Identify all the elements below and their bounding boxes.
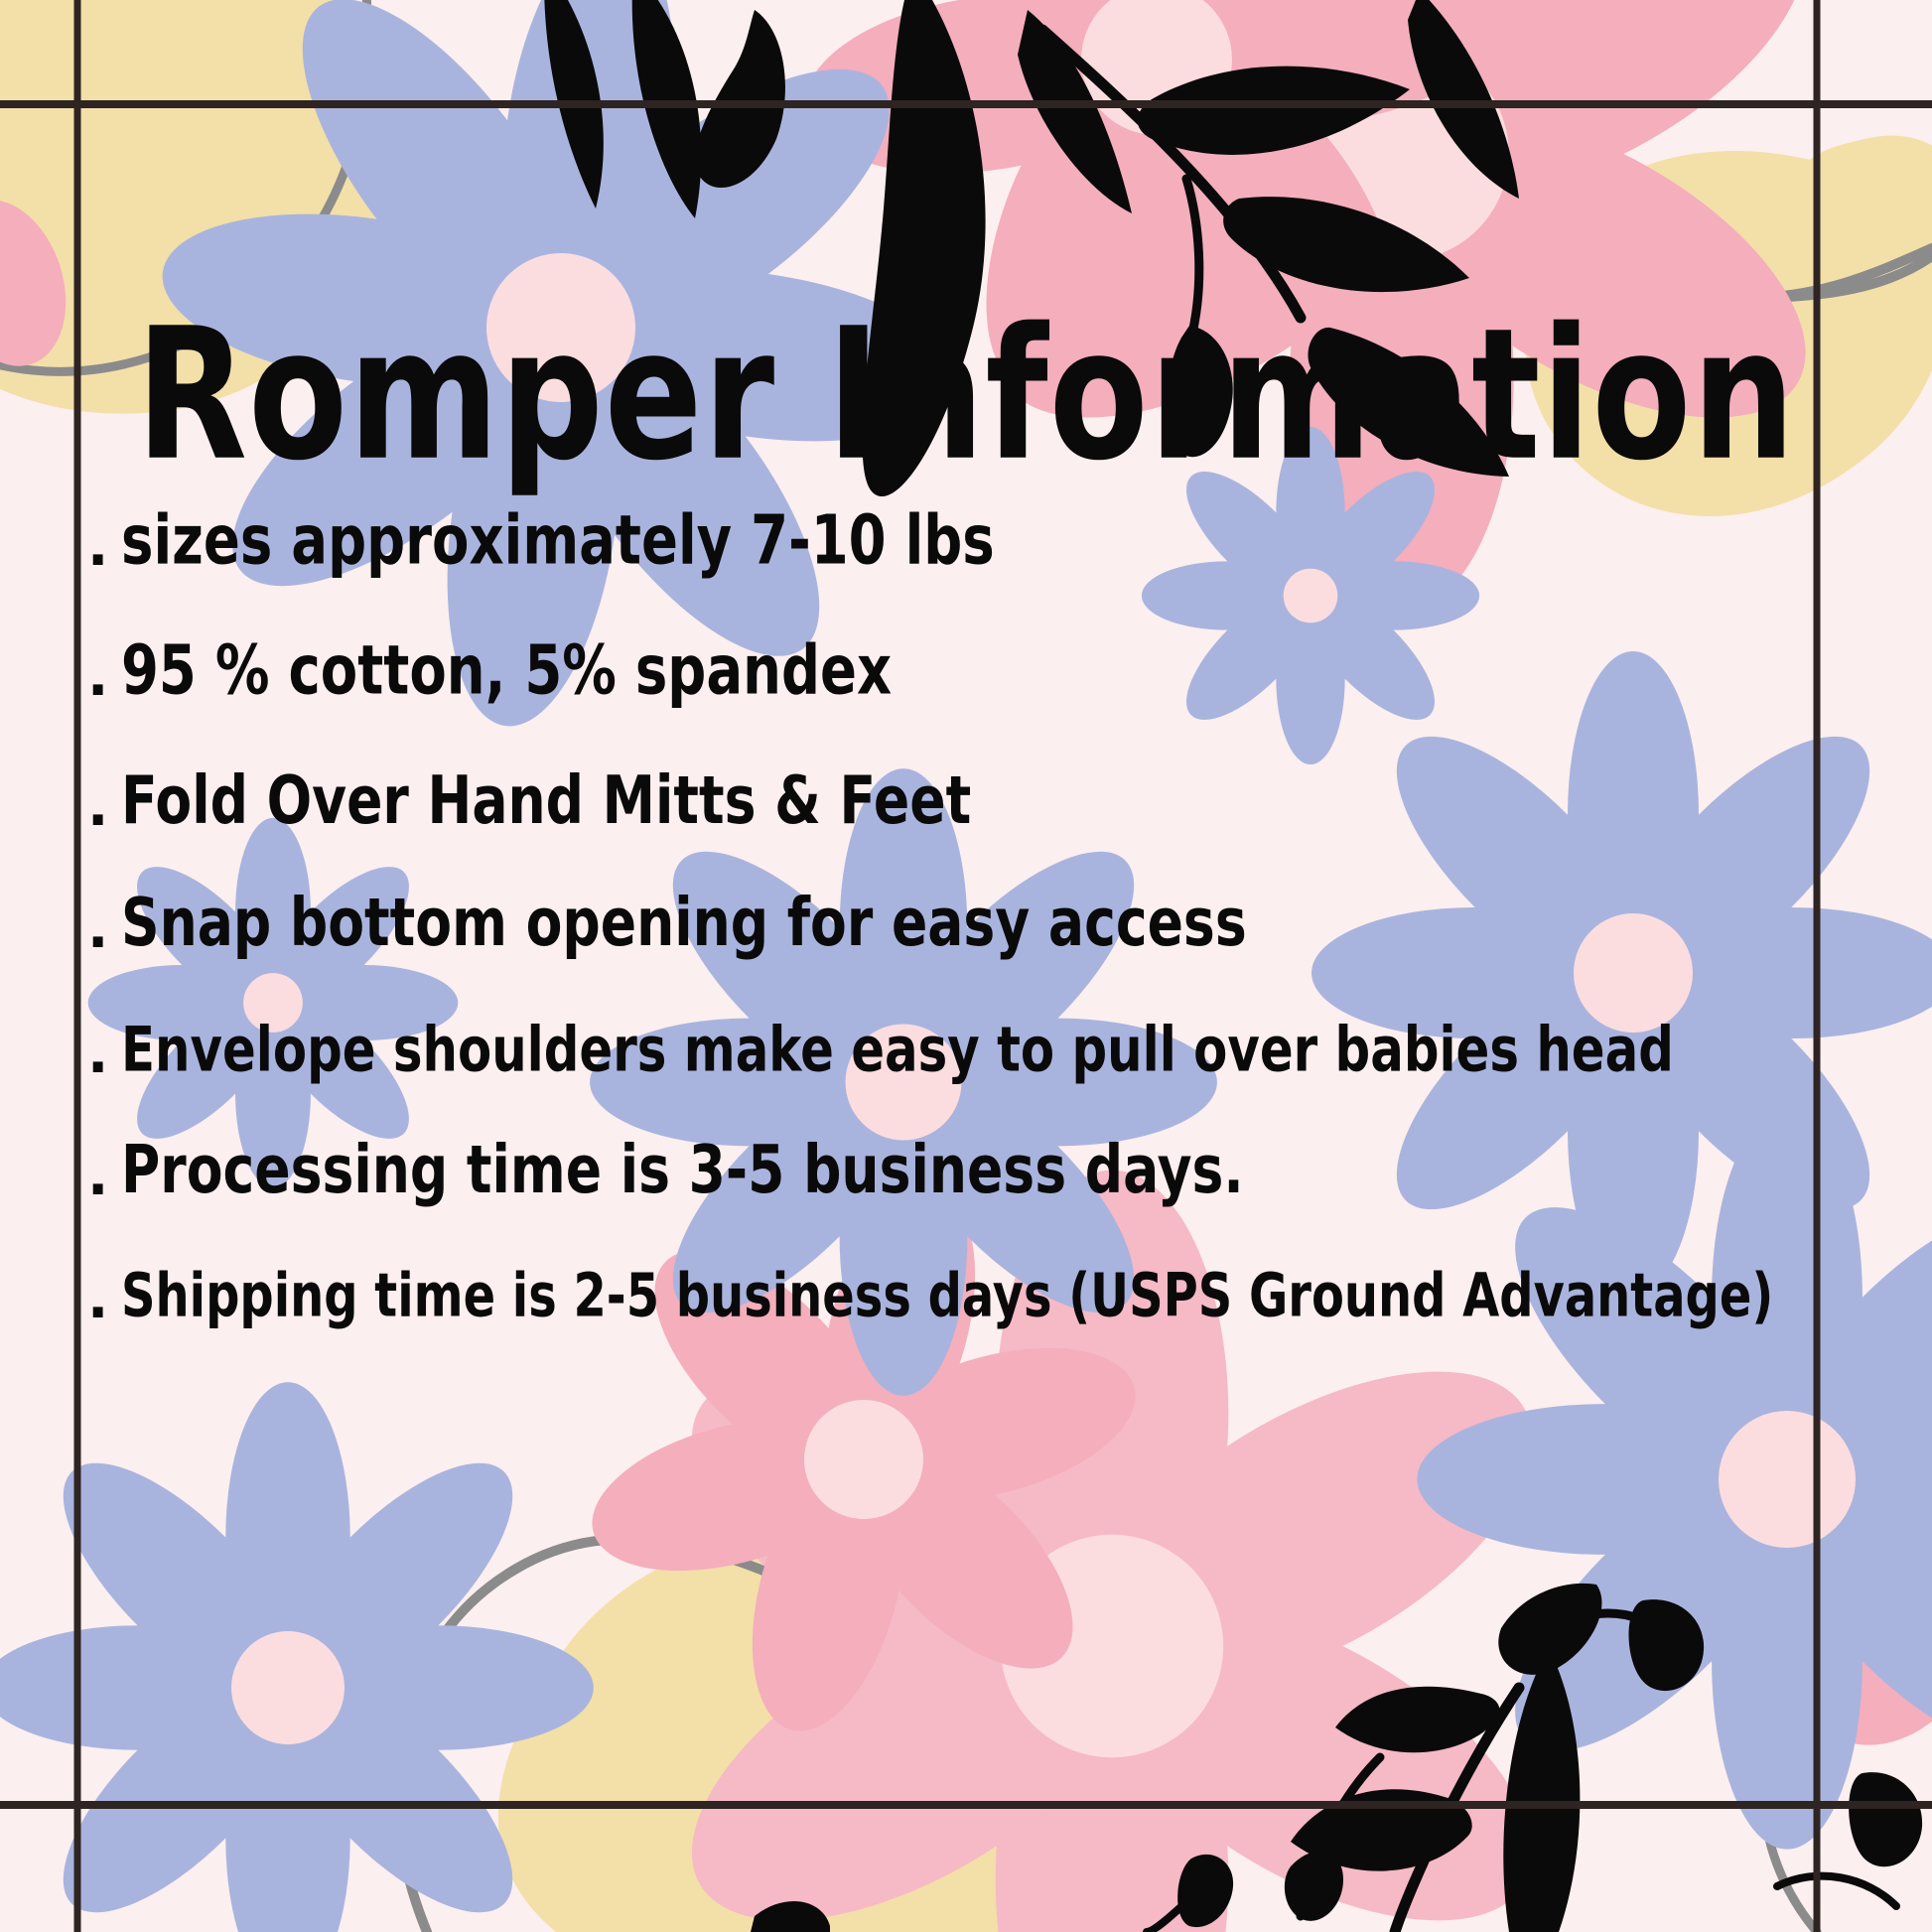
list-item-text: Snap bottom opening for easy access (121, 891, 1247, 957)
poster-canvas: Romper Information . sizes approximately… (0, 0, 1932, 1932)
list-item-text: sizes approximately 7-10 lbs (121, 506, 995, 574)
bullet-marker-icon: . (87, 779, 121, 835)
list-item: . Fold Over Hand Mitts & Feet (87, 778, 1874, 835)
list-item-text: Envelope shoulders make easy to pull ove… (121, 1019, 1674, 1081)
list-item-text: Shipping time is 2-5 business days (USPS… (121, 1267, 1773, 1326)
bullet-marker-icon: . (87, 1149, 121, 1204)
list-item-text: Fold Over Hand Mitts & Feet (121, 768, 971, 835)
list-item: . Processing time is 3-5 business days. (87, 1148, 1874, 1204)
list-item-text: Processing time is 3-5 business days. (121, 1138, 1244, 1204)
list-item: . Envelope shoulders make easy to pull o… (87, 1027, 1874, 1082)
poster-content: Romper Information . sizes approximately… (0, 0, 1932, 1932)
bullet-marker-icon: . (87, 1272, 121, 1327)
list-item: . 95 % cotton, 5% spandex (87, 646, 1874, 705)
bullet-marker-icon: . (87, 1027, 121, 1082)
bullet-marker-icon: . (87, 901, 121, 957)
bullet-marker-icon: . (87, 519, 121, 575)
list-item: . sizes approximately 7-10 lbs (87, 516, 1874, 575)
list-item-text: 95 % cotton, 5% spandex (121, 636, 892, 704)
bullet-marker-icon: . (87, 649, 121, 705)
list-item: . Snap bottom opening for easy access (87, 900, 1874, 957)
information-list: . sizes approximately 7-10 lbs . 95 % co… (87, 516, 1874, 1327)
list-item: . Shipping time is 2-5 business days (US… (87, 1272, 1874, 1327)
page-title: Romper Information (29, 305, 1903, 486)
